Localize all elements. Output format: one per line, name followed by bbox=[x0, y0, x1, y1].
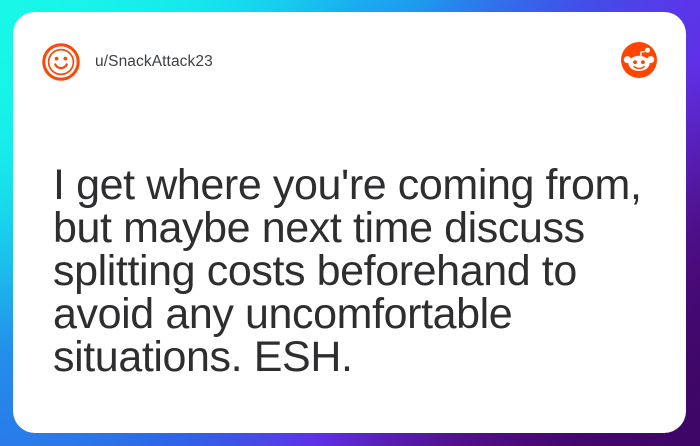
post-card: u/SnackAttack23 I get where you're comin… bbox=[13, 12, 686, 433]
smiley-face-icon bbox=[41, 42, 81, 82]
post-body-text: I get where you're coming from, but mayb… bbox=[53, 164, 650, 379]
post-header: u/SnackAttack23 bbox=[41, 38, 658, 86]
username-label: u/SnackAttack23 bbox=[95, 53, 213, 71]
gradient-background: u/SnackAttack23 I get where you're comin… bbox=[0, 0, 700, 446]
reddit-snoo-icon[interactable] bbox=[620, 41, 658, 79]
